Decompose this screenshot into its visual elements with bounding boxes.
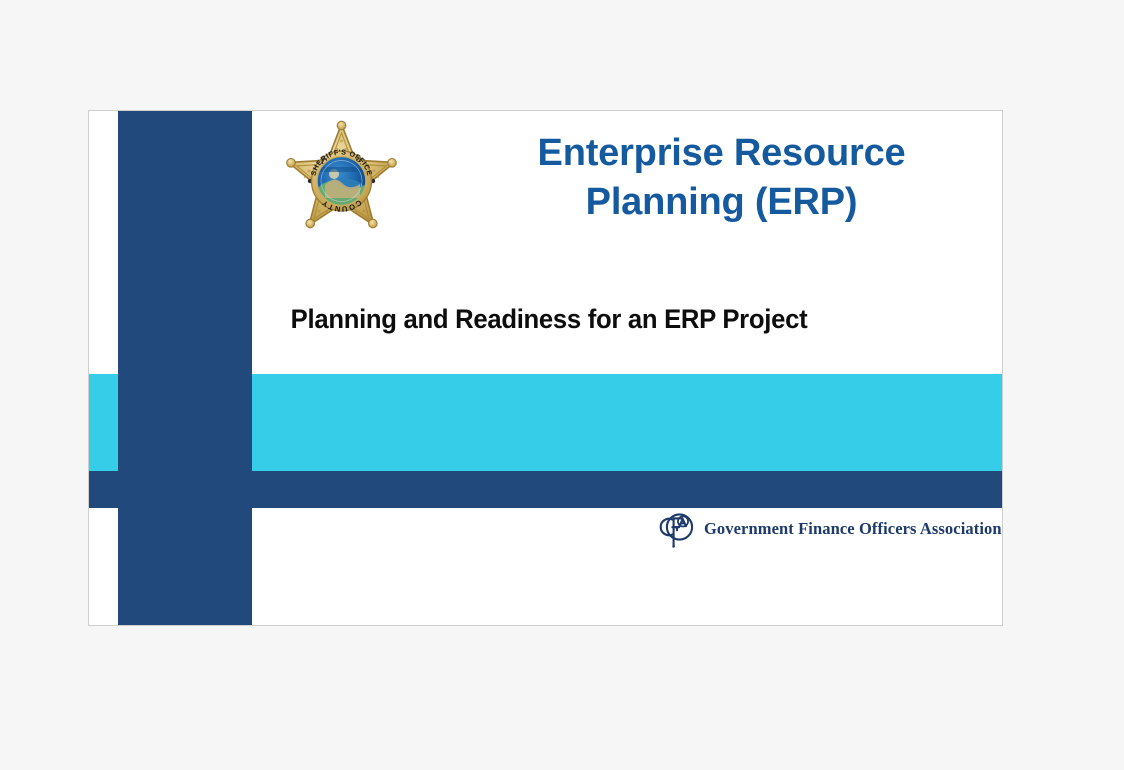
slide-title: Enterprise Resource Planning (ERP): [469, 129, 974, 226]
gfoa-organization-name: Government Finance Officers Association: [704, 519, 1002, 539]
sheriff-badge-icon: SHERIFF'S OFFICE COUNTY ORANGE: [279, 119, 404, 244]
slide-content: SHERIFF'S OFFICE COUNTY ORANGE: [89, 111, 1002, 625]
gfoa-footer-lockup: Government Finance Officers Association: [659, 509, 1002, 549]
presentation-slide: SHERIFF'S OFFICE COUNTY ORANGE: [88, 110, 1003, 626]
slide-subtitle: Planning and Readiness for an ERP Projec…: [169, 304, 929, 335]
gfoa-logo-icon: [659, 509, 695, 549]
